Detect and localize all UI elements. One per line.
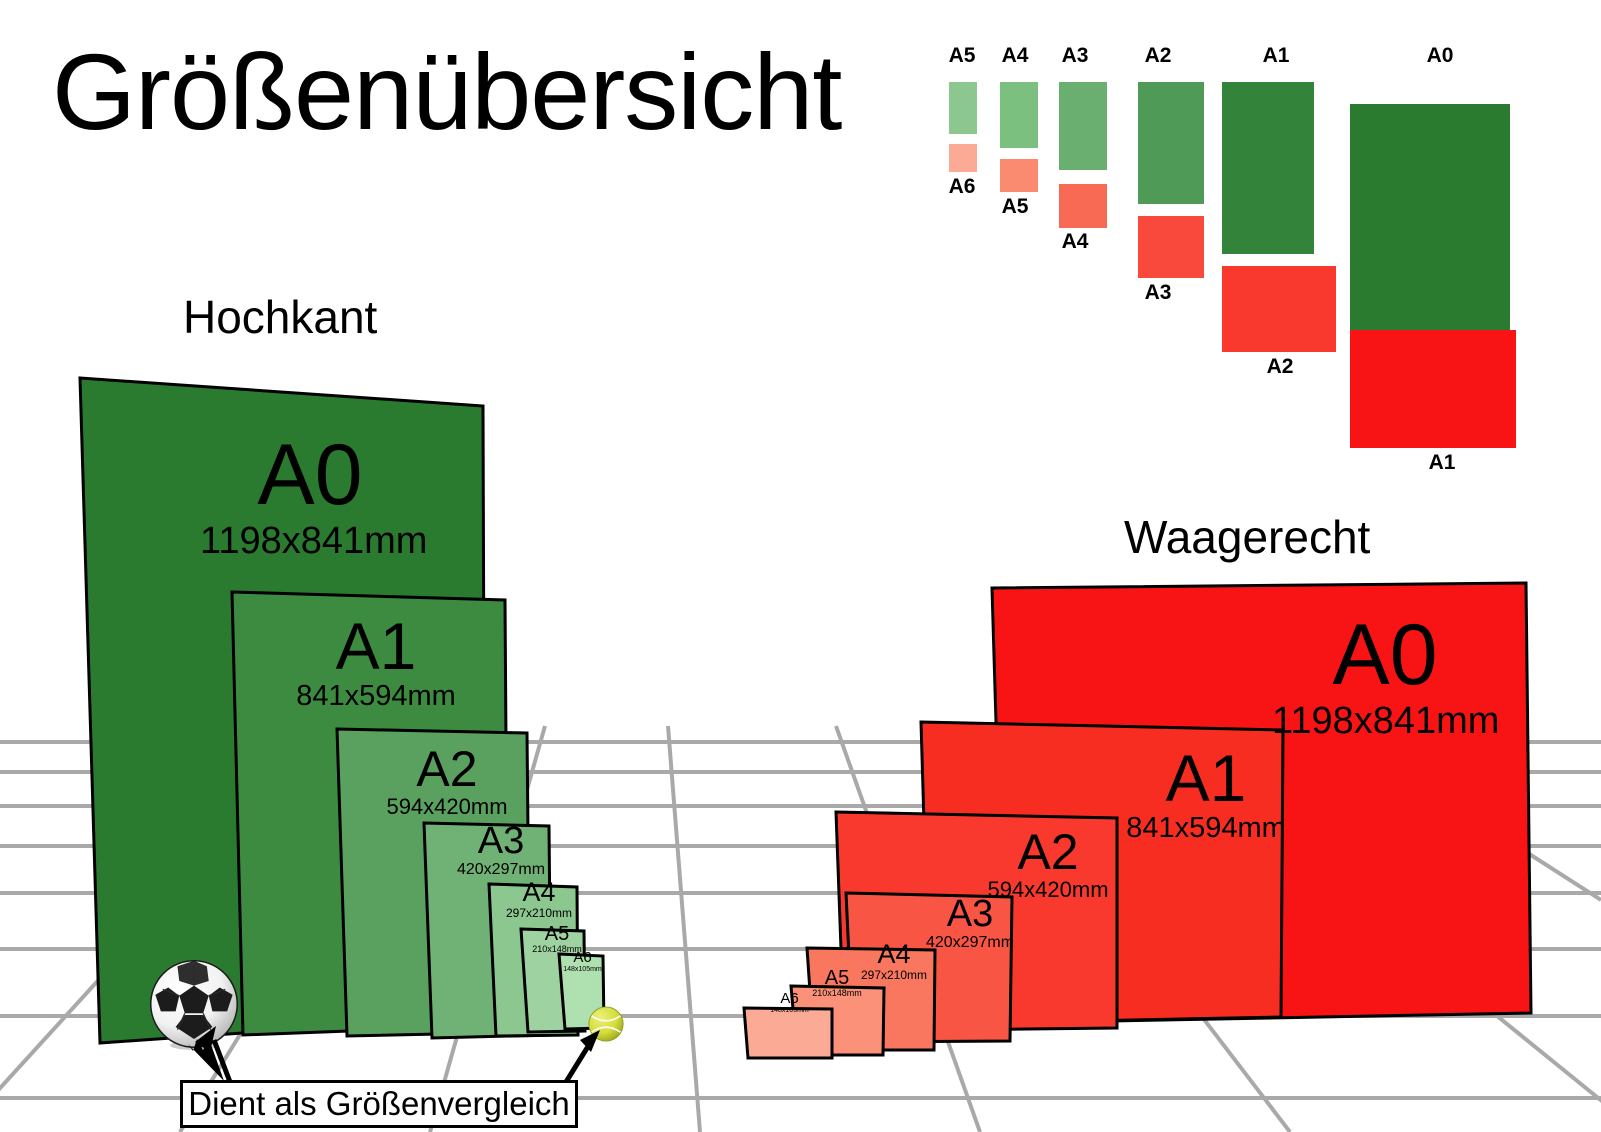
callout-label: Dient als Größenvergleich xyxy=(188,1085,570,1123)
callout-arrows xyxy=(0,0,1601,1132)
size-comparison-callout: Dient als Größenvergleich xyxy=(180,1080,578,1128)
infographic-canvas: Größenübersicht A5 A6 A4 A5 A3 A4 A2 A3 … xyxy=(0,0,1601,1132)
